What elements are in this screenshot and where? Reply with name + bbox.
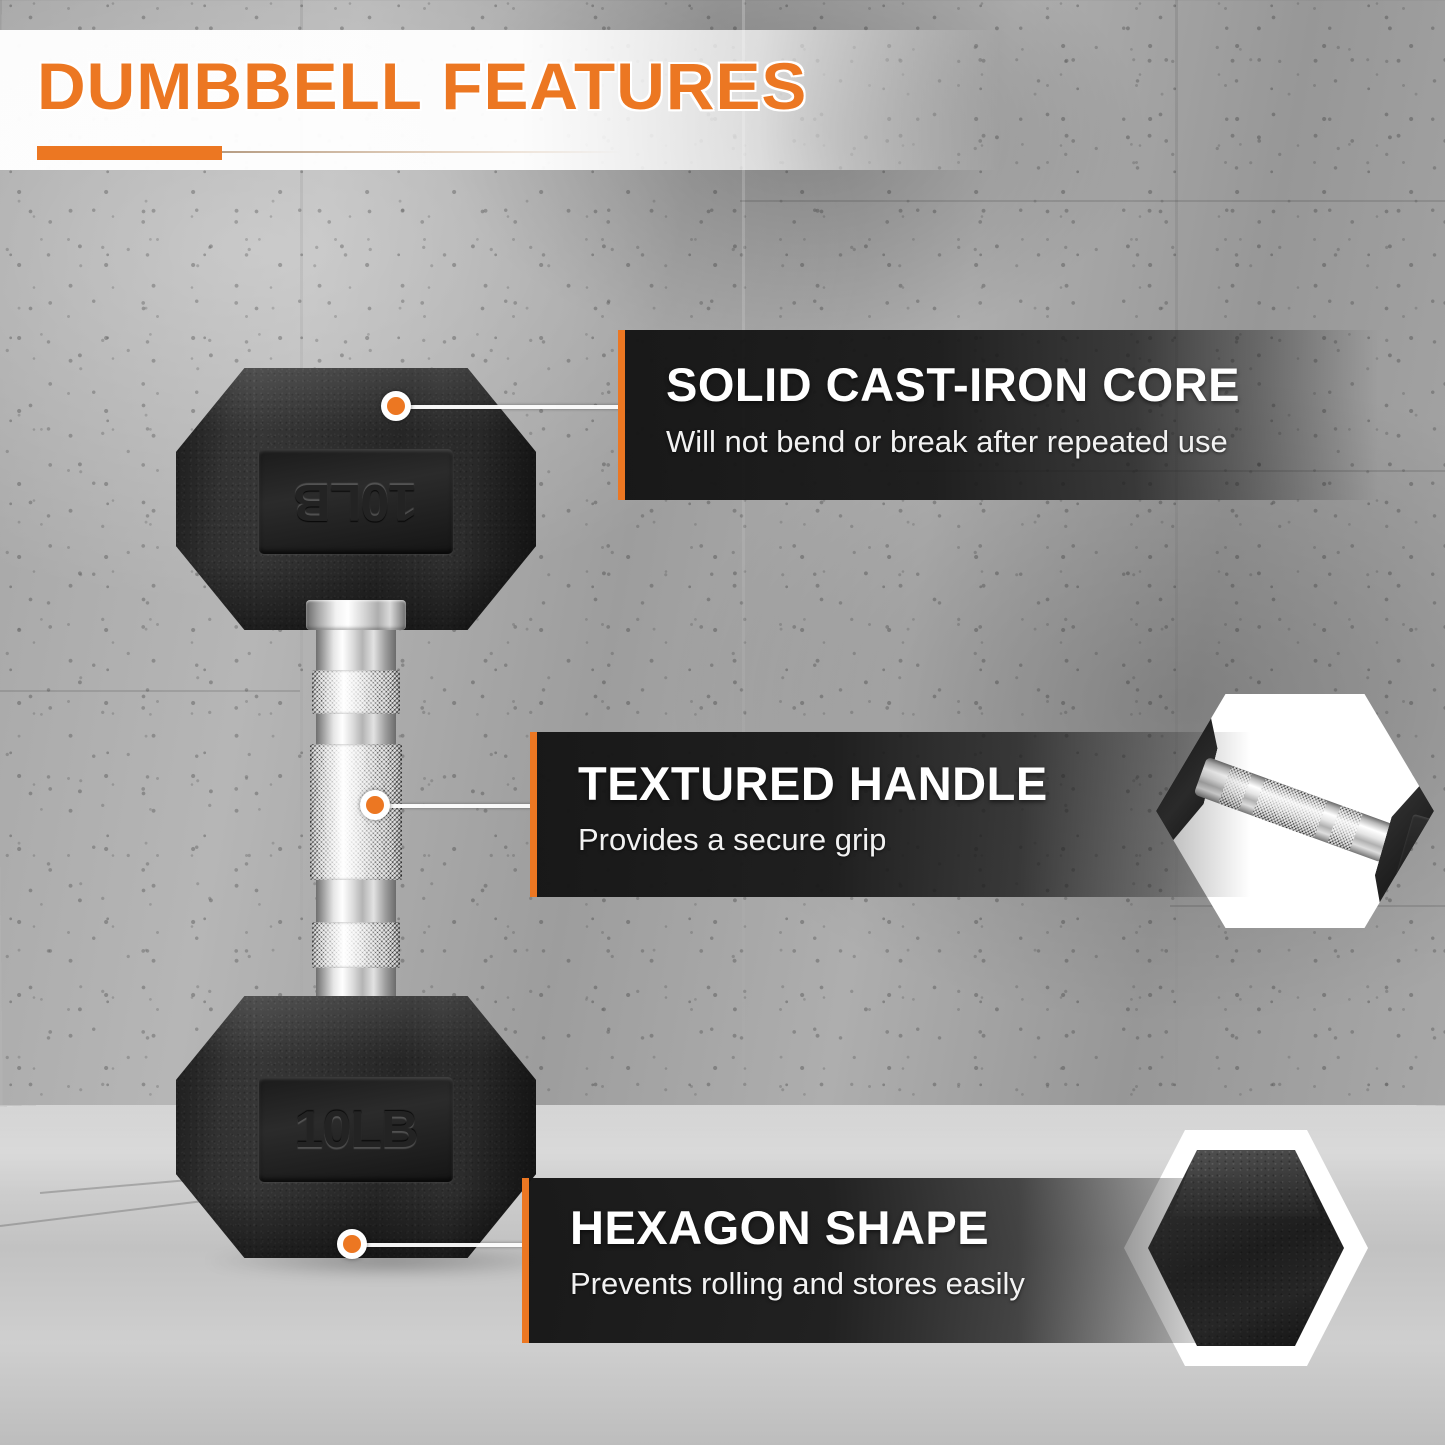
callout-marker-dot-handle (360, 790, 390, 820)
page-title: DUMBBELL FEATURES (37, 48, 807, 124)
callout-marker-dot-core (381, 391, 411, 421)
weight-label-bottom: 10LB (294, 1100, 417, 1160)
callout-marker-dot-hexagon (337, 1229, 367, 1259)
dumbbell-product-image: 10LB 10LB (176, 368, 536, 1258)
dumbbell-bottom-hex-head: 10LB (176, 996, 536, 1258)
weight-plate-top: 10LB (259, 449, 453, 554)
feature-panel-solid-cast-iron-core: SOLID CAST-IRON CORE Will not bend or br… (618, 330, 1378, 500)
panel-accent-bar (618, 330, 625, 500)
callout-connector-line-core (396, 405, 622, 409)
panel-accent-bar (530, 732, 537, 897)
wall-mortar-line (740, 200, 1445, 202)
callout-connector-line-handle (375, 804, 534, 808)
feature-subtitle-textured-handle: Provides a secure grip (578, 822, 886, 858)
feature-subtitle-hexagon-shape: Prevents rolling and stores easily (570, 1266, 1025, 1302)
handle-knurl-band-upper (312, 670, 400, 714)
title-underline-line (222, 151, 622, 153)
panel-accent-bar (522, 1178, 529, 1343)
mini-knurl-band (1252, 778, 1328, 838)
infographic-canvas: DUMBBELL FEATURES 10LB (0, 0, 1445, 1445)
callout-connector-line-hexagon (352, 1243, 526, 1247)
feature-panel-textured-handle: TEXTURED HANDLE Provides a secure grip (530, 732, 1250, 897)
feature-panel-hexagon-shape: HEXAGON SHAPE Prevents rolling and store… (522, 1178, 1252, 1343)
weight-label-top: 10LB (294, 472, 417, 532)
wall-seam-line (1175, 0, 1178, 1130)
feature-subtitle-solid-cast-iron-core: Will not bend or break after repeated us… (666, 424, 1228, 460)
handle-collar-top (306, 600, 406, 630)
handle-knurl-band-lower (312, 922, 400, 968)
feature-title-hexagon-shape: HEXAGON SHAPE (570, 1200, 989, 1255)
weight-plate-bottom: 10LB (259, 1077, 453, 1182)
dumbbell-chrome-handle (302, 604, 410, 1024)
feature-title-solid-cast-iron-core: SOLID CAST-IRON CORE (666, 357, 1240, 412)
title-underline-bar (37, 146, 222, 160)
feature-title-textured-handle: TEXTURED HANDLE (578, 756, 1048, 811)
